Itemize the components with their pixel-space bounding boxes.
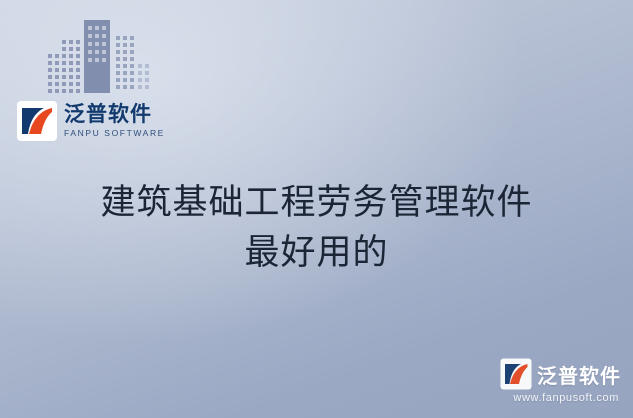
page-title: 建筑基础工程劳务管理软件 最好用的 bbox=[0, 178, 633, 277]
brand-name-en: FANPU SOFTWARE bbox=[64, 129, 165, 138]
brand-name-cn: 泛普软件 bbox=[64, 104, 165, 125]
watermark-name-cn: 泛普软件 bbox=[537, 360, 621, 389]
watermark-url: www.fanpusoft.com bbox=[513, 392, 619, 404]
watermark: 泛普软件 www.fanpusoft.com bbox=[500, 358, 621, 404]
page-title-line-1: 建筑基础工程劳务管理软件 bbox=[0, 178, 633, 228]
fanpu-swoosh-logo-icon bbox=[500, 358, 532, 390]
brand-logo: 泛普软件 FANPU SOFTWARE bbox=[16, 98, 176, 144]
fanpu-swoosh-logo-icon bbox=[16, 100, 58, 142]
brand-logo-text: 泛普软件 FANPU SOFTWARE bbox=[64, 104, 165, 138]
slide-canvas: 泛普软件 FANPU SOFTWARE 建筑基础工程劳务管理软件 最好用的 泛普… bbox=[0, 0, 633, 418]
pixel-building-icon bbox=[46, 18, 164, 96]
page-title-line-2: 最好用的 bbox=[0, 228, 633, 278]
watermark-brand: 泛普软件 bbox=[500, 358, 621, 390]
